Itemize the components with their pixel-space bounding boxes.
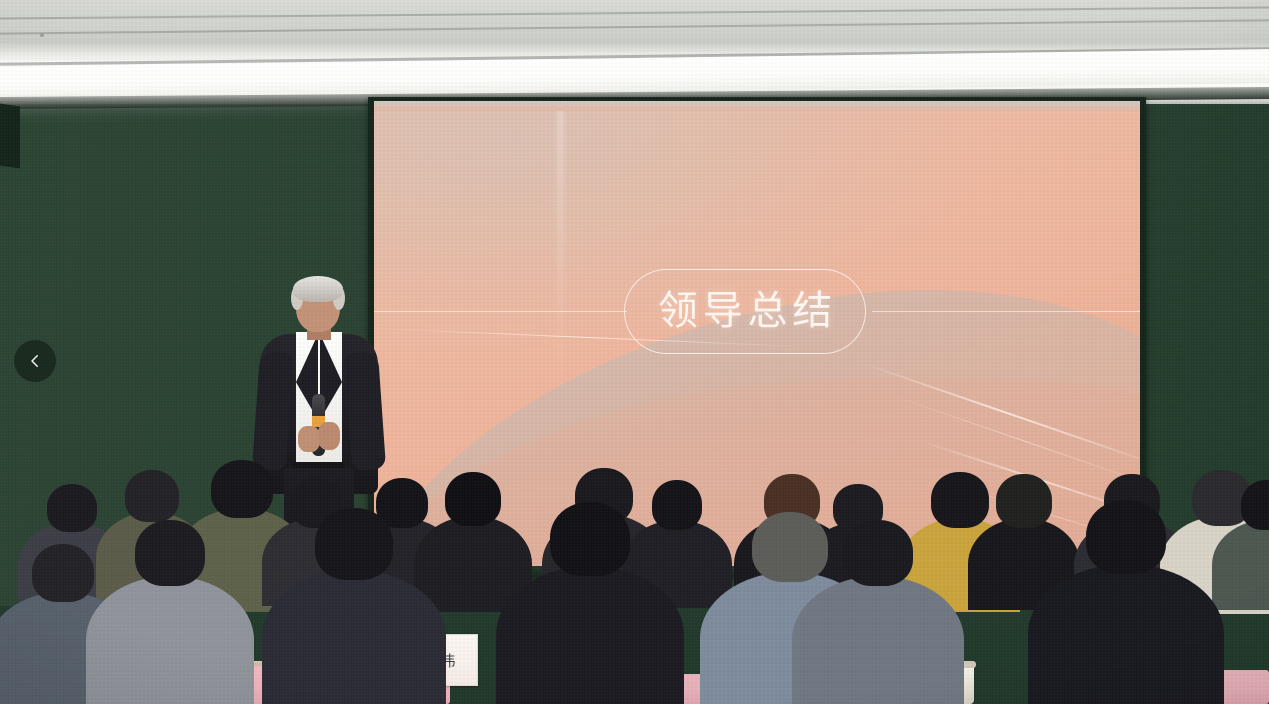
slide-light-reflection xyxy=(558,101,563,394)
audience-member-torso xyxy=(1028,564,1224,704)
audience-member-head xyxy=(1241,480,1269,530)
audience-member-torso xyxy=(86,576,254,704)
presenter-hair xyxy=(293,276,343,302)
audience-member-head xyxy=(843,520,913,586)
audience-member-torso xyxy=(792,576,964,704)
wall-panel xyxy=(0,102,20,169)
audience-member-head xyxy=(32,544,94,602)
audience-member-head xyxy=(315,508,393,580)
audience-member-head xyxy=(1086,500,1166,574)
audience-member xyxy=(262,498,446,704)
audience-member xyxy=(1028,490,1224,704)
slide-title-rule-right xyxy=(872,311,1140,312)
audience-member-head xyxy=(135,520,205,586)
previous-image-button[interactable] xyxy=(14,340,56,382)
presenter-hand-right xyxy=(318,422,340,450)
slide-title-rule-left xyxy=(374,311,627,312)
chevron-left-icon xyxy=(26,352,44,370)
slide-title: 领导总结 xyxy=(653,291,837,331)
audience-member-head xyxy=(550,502,630,576)
presenter-hand-left xyxy=(298,426,320,452)
audience-member-torso xyxy=(262,570,446,704)
screen-top-haze xyxy=(374,101,1140,111)
audience xyxy=(0,454,1269,704)
photo-viewer: 领导总结 伟 xyxy=(0,0,1269,704)
ceiling-seam xyxy=(0,19,1269,34)
ceiling-fixture-dot xyxy=(40,33,44,37)
slide-title-pill: 领导总结 xyxy=(624,269,865,355)
audience-member xyxy=(792,510,964,704)
audience-member-head xyxy=(445,472,501,526)
audience-member-torso xyxy=(496,566,684,704)
audience-member xyxy=(496,492,684,704)
audience-member xyxy=(86,510,254,704)
ceiling-seam xyxy=(0,6,1269,19)
